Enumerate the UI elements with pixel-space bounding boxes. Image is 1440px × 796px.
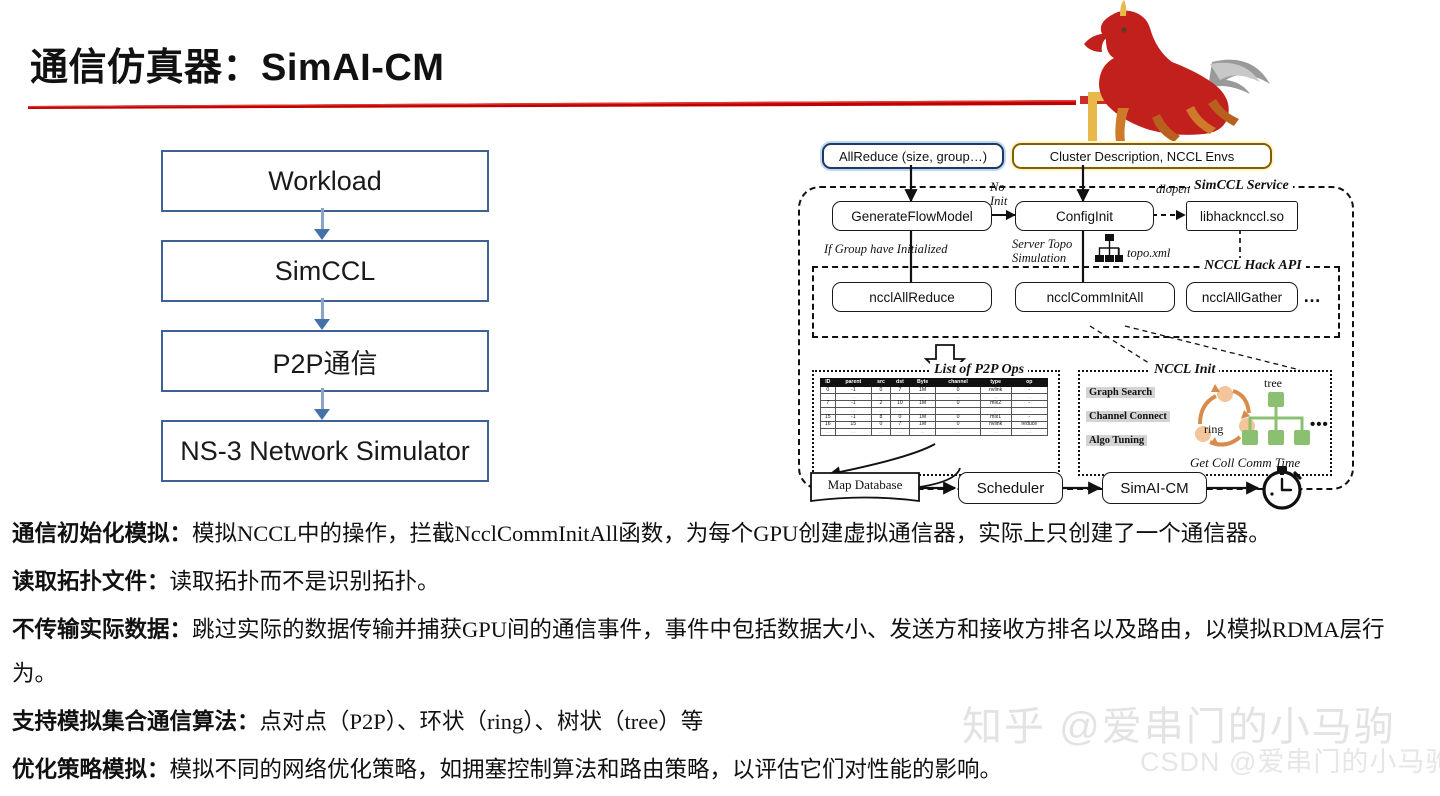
p2p-ops-title: List of P2P Ops — [930, 362, 1028, 378]
body-lead-3: 不传输实际数据： — [12, 617, 192, 642]
table-cell: -1 — [835, 400, 871, 407]
body-rest-4: 点对点（P2P）、环状（ring）、树状（tree）等 — [260, 709, 704, 734]
tree-algorithm-icon — [1240, 392, 1312, 464]
edge-label-server-topo-simulation: Server TopoSimulation — [1012, 237, 1088, 265]
table-cell: … — [890, 429, 909, 436]
flow-arrowhead-3 — [314, 409, 330, 420]
table-cell: … — [909, 429, 935, 436]
flow-arrowhead-1 — [314, 229, 330, 240]
node-simai-cm[interactable]: SimAI-CM — [1102, 472, 1207, 504]
table-row: …………………… — [821, 429, 1048, 436]
page-title: 通信仿真器：SimAI-CM — [30, 36, 444, 91]
table-cell: 7 — [890, 387, 909, 394]
table-cell: -1 — [835, 387, 871, 394]
node-label: libhacknccl.so — [1200, 209, 1284, 224]
flow-box-label: SimCCL — [275, 256, 376, 287]
table-cell: 10 — [890, 400, 909, 407]
node-label: Scheduler — [977, 480, 1045, 497]
col-dst: dst — [890, 379, 909, 387]
pipeline-flowchart: Workload SimCCL P2P通信 NS-3 Network Simul… — [161, 150, 489, 490]
node-nccl-allreduce[interactable]: ncclAllReduce — [832, 282, 992, 312]
table-cell: 1M — [909, 387, 935, 394]
table-cell: … — [936, 429, 980, 436]
col-id: ID — [821, 379, 836, 387]
node-nccl-comm-init-all[interactable]: ncclCommInitAll — [1015, 282, 1175, 312]
body-rest-2: 读取拓扑而不是识别拓扑。 — [170, 569, 440, 594]
col-src: src — [871, 379, 890, 387]
nccl-init-item-channel-connect: Channel Connect — [1086, 411, 1170, 422]
flow-box-label: P2P通信 — [272, 342, 377, 381]
body-lead-4: 支持模拟集合通信算法： — [12, 709, 260, 734]
table-header-row: ID parent src dst Byte channel type op — [821, 379, 1048, 387]
flow-box-label: NS-3 Network Simulator — [180, 436, 470, 467]
body-lead-1: 通信初始化模拟： — [12, 521, 192, 546]
table-cell: - — [1011, 414, 1047, 421]
table-cell: - — [1011, 400, 1047, 407]
table-cell: 7 — [890, 421, 909, 428]
table-cell: 1M — [909, 421, 935, 428]
brand-logo: 爱串门的 小马驹 — [1060, 0, 1440, 150]
table-cell: 15 — [821, 414, 836, 421]
nccl-init-item-algo-tuning: Algo Tuning — [1086, 435, 1147, 446]
col-channel: channel — [936, 379, 980, 387]
table-cell: - — [1011, 387, 1047, 394]
table-cell: 1M — [909, 414, 935, 421]
table-cell: mlx2 — [980, 400, 1011, 407]
node-scheduler[interactable]: Scheduler — [958, 472, 1063, 504]
nccl-init-item-graph-search: Graph Search — [1086, 387, 1155, 398]
p2p-ops-table: ID parent src dst Byte channel type op 0… — [820, 378, 1048, 436]
table-cell: 7 — [821, 400, 836, 407]
node-nccl-allgather[interactable]: ncclAllGather — [1186, 282, 1298, 312]
col-parent: parent — [835, 379, 871, 387]
node-more-ops-ellipsis: … — [1303, 286, 1322, 307]
stopwatch-icon — [1258, 464, 1306, 512]
body-line-2: 读取拓扑文件：读取拓扑而不是识别拓扑。 — [12, 560, 1428, 604]
table-cell: … — [835, 429, 871, 436]
horse-logo-icon — [1060, 0, 1440, 150]
body-rest-3: 跳过实际的数据传输并捕获GPU间的通信事件，事件中包括数据大小、发送方和接收方排… — [12, 617, 1385, 686]
table-cell: 0 — [936, 414, 980, 421]
edge-label-topo-xml: topo.xml — [1127, 246, 1170, 260]
table-cell: 1M — [909, 400, 935, 407]
edge-label-no-init: NoInit — [990, 180, 1020, 208]
table-cell: 16 — [821, 421, 836, 428]
body-rest-1: 模拟NCCL中的操作，拦截NcclCommInitAll函数，为每个GPU创建虚… — [192, 521, 1271, 546]
input-cluster-desc-label: Cluster Description, NCCL Envs — [1050, 149, 1234, 164]
table-cell: 0 — [821, 387, 836, 394]
node-config-init[interactable]: ConfigInit — [1015, 201, 1154, 231]
simccl-service-title: SimCCL Service — [1190, 178, 1293, 194]
table-cell: 0 — [936, 387, 980, 394]
col-op: op — [1011, 379, 1047, 387]
node-label: SimAI-CM — [1120, 480, 1188, 497]
input-cluster-desc-box[interactable]: Cluster Description, NCCL Envs — [1012, 143, 1272, 169]
edge-label-dlopen: dlopen — [1156, 182, 1190, 196]
ring-label: ring — [1204, 422, 1223, 437]
table-cell: 0 — [936, 421, 980, 428]
table-cell: … — [1011, 429, 1047, 436]
table-cell: nvlink — [980, 387, 1011, 394]
table-cell: 15 — [835, 421, 871, 428]
title-divider-rule — [28, 100, 1076, 109]
table-cell: 0 — [936, 400, 980, 407]
table-cell: 0 — [871, 421, 890, 428]
table-cell: 2 — [871, 400, 890, 407]
node-label: ConfigInit — [1056, 209, 1113, 224]
body-lead-2: 读取拓扑文件： — [12, 569, 170, 594]
input-allreduce-label: AllReduce (size, group…) — [839, 149, 987, 164]
table-cell: … — [980, 429, 1011, 436]
body-line-1: 通信初始化模拟：模拟NCCL中的操作，拦截NcclCommInitAll函数，为… — [12, 512, 1428, 556]
table-cell: 0 — [871, 387, 890, 394]
table-row: 0-1071M0nvlink- — [821, 387, 1048, 394]
nccl-hack-api-title: NCCL Hack API — [1200, 258, 1306, 274]
table-cell: 8 — [871, 414, 890, 421]
node-label: ncclAllGather — [1202, 290, 1282, 305]
body-lead-5: 优化策略模拟： — [12, 757, 170, 782]
body-rest-5: 模拟不同的网络优化策略，如拥塞控制算法和路由策略，以评估它们对性能的影响。 — [170, 757, 1003, 782]
flow-arrowhead-2 — [314, 319, 330, 330]
node-label: GenerateFlowModel — [851, 209, 973, 224]
node-label: Map Database — [810, 472, 920, 498]
table-row: 15-1801M0mlx1- — [821, 414, 1048, 421]
col-type: type — [980, 379, 1011, 387]
flow-box-simccl[interactable]: SimCCL — [161, 240, 489, 302]
table-row: 7-12101M0mlx2- — [821, 400, 1048, 407]
body-line-3: 不传输实际数据：跳过实际的数据传输并捕获GPU间的通信事件，事件中包括数据大小、… — [12, 608, 1428, 696]
table-cell: reduce — [1011, 421, 1047, 428]
topology-tree-icon — [1095, 234, 1123, 264]
col-byte: Byte — [909, 379, 935, 387]
node-label: ncclAllReduce — [869, 290, 955, 305]
nccl-init-title: NCCL Init — [1150, 362, 1219, 378]
nccl-init-items: Graph Search Channel Connect Algo Tuning — [1086, 378, 1191, 448]
table-cell: mlx1 — [980, 414, 1011, 421]
flow-box-workload[interactable]: Workload — [161, 150, 489, 212]
flow-box-p2p[interactable]: P2P通信 — [161, 330, 489, 392]
node-map-database[interactable]: Map Database — [810, 472, 920, 502]
table-cell: … — [821, 429, 836, 436]
node-label: ncclCommInitAll — [1047, 290, 1144, 305]
nccl-init-more-ellipsis: ••• — [1310, 416, 1329, 433]
edge-label-if-group-initialized: If Group have Initialized — [824, 242, 947, 256]
table-cell: nvlink — [980, 421, 1011, 428]
tree-label: tree — [1264, 376, 1282, 391]
flow-box-ns3[interactable]: NS-3 Network Simulator — [161, 420, 489, 482]
node-generate-flow-model[interactable]: GenerateFlowModel — [832, 201, 992, 231]
input-allreduce-box[interactable]: AllReduce (size, group…) — [822, 143, 1004, 169]
table-row: 1615071M0nvlinkreduce — [821, 421, 1048, 428]
table-cell: 0 — [890, 414, 909, 421]
table-cell: … — [871, 429, 890, 436]
table-cell: -1 — [835, 414, 871, 421]
csdn-watermark: CSDN @爱串门的小马驹 — [1140, 740, 1440, 779]
architecture-diagram: AllReduce (size, group…) Cluster Descrip… — [790, 138, 1360, 510]
flow-box-label: Workload — [268, 166, 382, 197]
node-libhacknccl[interactable]: libhacknccl.so — [1186, 201, 1298, 231]
